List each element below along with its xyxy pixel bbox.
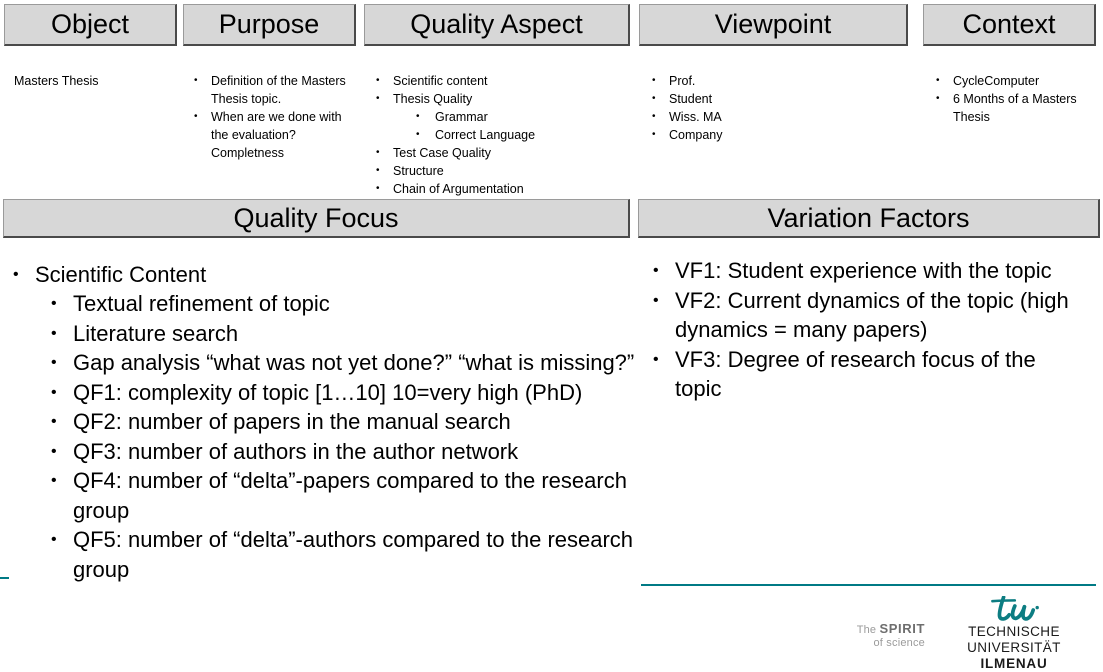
tu-mark-dot [1036,606,1039,609]
list-item: VF1: Student experience with the topic [650,256,1080,286]
list-item: 6 Months of a Masters Thesis [932,90,1094,126]
list-item: VF2: Current dynamics of the topic (high… [650,286,1080,345]
purpose-list: Definition of the Masters Thesis topic. … [190,72,353,162]
list-item: Scientific Content [10,260,630,290]
quality-focus-sublist: Textual refinement of topic Literature s… [10,289,658,584]
list-item: QF1: complexity of topic [1…10] 10=very … [48,378,658,408]
list-item: QF5: number of “delta”-authors compared … [48,525,658,584]
list-item: CycleComputer [932,72,1094,90]
footer-logos: The SPIRIT of science TECHNISCHE UNIVERS… [820,596,1100,658]
list-item: Correct Language [414,126,634,144]
spirit-the: The [857,624,880,636]
spirit-of-science-logo: The SPIRIT of science [840,622,925,650]
header-box-purpose: Purpose [183,4,356,46]
list-item: Grammar [414,108,634,126]
list-item: VF3: Degree of research focus of the top… [650,345,1080,404]
list-item: Prof. [648,72,898,90]
header-label-quality-aspect: Quality Aspect [410,11,583,38]
list-item: Chain of Argumentation [372,180,634,198]
header-box-variation-factors: Variation Factors [638,199,1100,238]
viewpoint-list: Prof. Student Wiss. MA Company [648,72,898,144]
variation-factors-list: VF1: Student experience with the topic V… [650,256,1080,404]
quality-aspect-sublist: Grammar Correct Language [372,108,634,144]
list-item: Gap analysis “what was not yet done?” “w… [48,348,658,378]
university-name-line2: ILMENAU [928,656,1100,672]
header-label-variation-factors: Variation Factors [767,205,969,232]
column-body-purpose: Definition of the Masters Thesis topic. … [190,72,353,162]
list-item: Literature search [48,319,658,349]
list-item: Student [648,90,898,108]
left-edge-rule [0,577,9,579]
header-label-context: Context [962,11,1055,38]
header-label-object: Object [51,11,129,38]
header-label-viewpoint: Viewpoint [715,11,832,38]
header-box-object: Object [4,4,177,46]
quality-focus-list: Scientific Content [10,260,630,290]
list-item: Wiss. MA [648,108,898,126]
list-item: Textual refinement of topic [48,289,658,319]
context-list: CycleComputer 6 Months of a Masters Thes… [932,72,1094,126]
list-item: Company [648,126,898,144]
column-body-object: Masters Thesis [14,72,174,90]
object-item: Masters Thesis [14,72,174,90]
column-body-context: CycleComputer 6 Months of a Masters Thes… [932,72,1094,126]
list-item: Scientific content [372,72,634,90]
list-item: QF4: number of “delta”-papers compared t… [48,466,658,525]
list-item: Test Case Quality [372,144,634,162]
header-box-context: Context [923,4,1096,46]
list-item: When are we done with the evaluation? Co… [190,108,353,162]
list-item: QF3: number of authors in the author net… [48,437,658,467]
column-body-quality-aspect: Scientific content Thesis Quality Gramma… [372,72,634,216]
header-box-viewpoint: Viewpoint [639,4,908,46]
spirit-sub: of science [840,637,925,650]
university-name-line1: TECHNISCHE UNIVERSITÄT [928,624,1100,656]
tu-ilmenau-logo: TECHNISCHE UNIVERSITÄT ILMENAU [928,596,1100,672]
list-item: Structure [372,162,634,180]
header-box-quality-aspect: Quality Aspect [364,4,630,46]
tu-script-mark-icon [986,596,1042,624]
quality-aspect-list: Scientific content Thesis Quality [372,72,634,108]
list-item: QF2: number of papers in the manual sear… [48,407,658,437]
column-body-viewpoint: Prof. Student Wiss. MA Company [648,72,898,144]
header-label-purpose: Purpose [219,11,320,38]
header-box-quality-focus: Quality Focus [3,199,630,238]
list-item: Definition of the Masters Thesis topic. [190,72,353,108]
spirit-brand: SPIRIT [880,621,926,636]
list-item: Thesis Quality [372,90,634,108]
header-label-quality-focus: Quality Focus [233,205,398,232]
footer-rule [641,584,1096,586]
